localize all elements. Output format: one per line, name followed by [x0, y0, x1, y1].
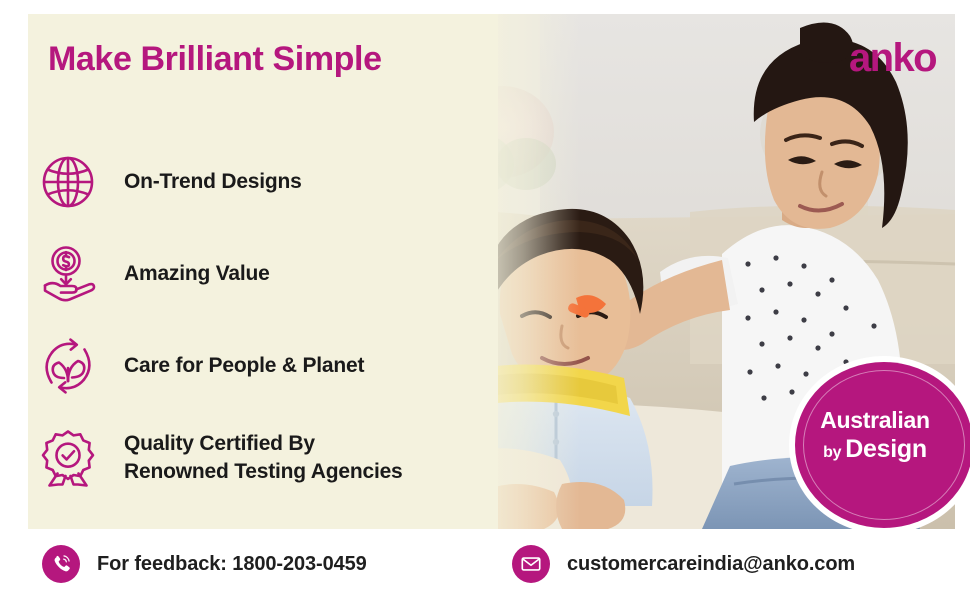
envelope-icon [512, 545, 550, 583]
feature-label: Quality Certified By Renowned Testing Ag… [124, 430, 403, 485]
badge-text: Australian byDesign [795, 408, 955, 464]
feature-item-amazing-value: Amazing Value [36, 228, 456, 320]
coin-in-hand-icon [36, 242, 100, 306]
feedback-phone-text: For feedback: 1800-203-0459 [97, 553, 367, 576]
feature-label: On-Trend Designs [124, 168, 302, 196]
feature-item-care-for-people-planet: Care for People & Planet [36, 320, 456, 412]
anko-logo: anko [849, 38, 936, 78]
award-rosette-icon [36, 426, 100, 490]
feature-item-on-trend-designs: On-Trend Designs [36, 136, 456, 228]
feature-label: Amazing Value [124, 260, 270, 288]
globe-icon [36, 150, 100, 214]
badge-by-word: by [823, 444, 841, 461]
contact-email[interactable]: customercareindia@anko.com [512, 545, 855, 583]
footer-bar: For feedback: 1800-203-0459 customercare… [0, 529, 970, 600]
phone-icon [42, 545, 80, 583]
recycle-leaf-icon [36, 334, 100, 398]
australian-by-design-badge: Australian byDesign [795, 362, 970, 528]
badge-design-word: Design [845, 435, 927, 463]
feature-item-quality-certified: Quality Certified By Renowned Testing Ag… [36, 412, 456, 504]
badge-line-australian: Australian [795, 408, 955, 433]
contact-phone[interactable]: For feedback: 1800-203-0459 [42, 545, 367, 583]
feature-list: On-Trend Designs Amazing Value [36, 136, 456, 504]
customer-care-email-text: customercareindia@anko.com [567, 553, 855, 576]
page-title: Make Brilliant Simple [48, 40, 382, 79]
feature-label: Care for People & Planet [124, 352, 364, 380]
badge-line-by-design: byDesign [795, 435, 955, 465]
promotional-banner: Make Brilliant Simple anko On-Trend Desi… [0, 0, 970, 600]
